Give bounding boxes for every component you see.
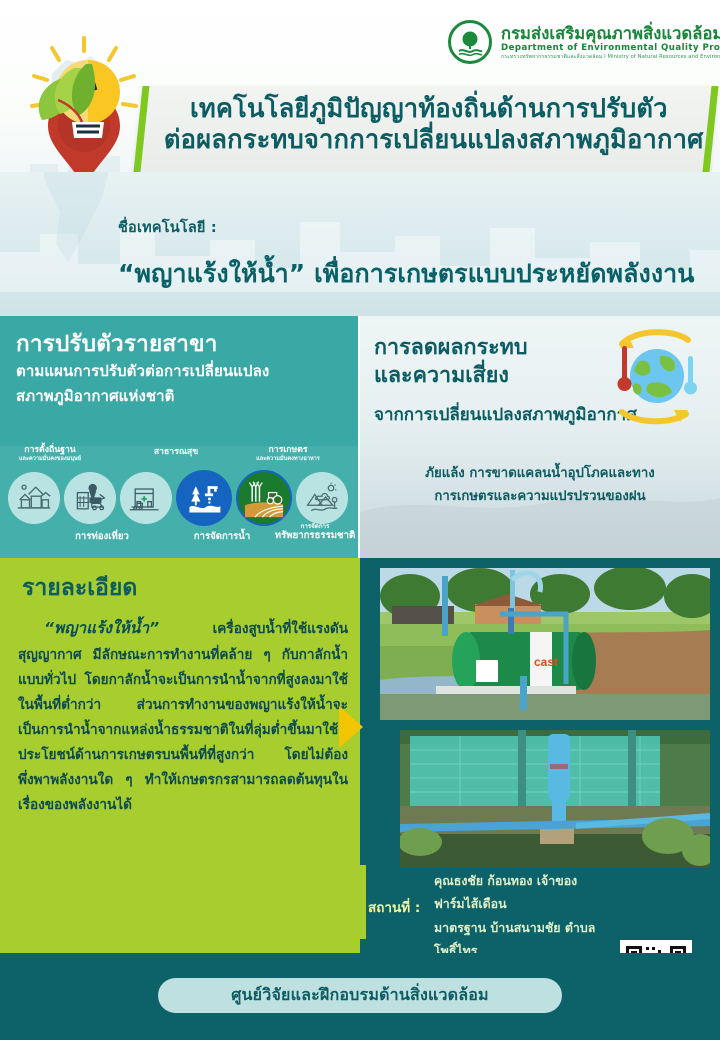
poster-header: กรมส่งเสริมคุณภาพสิ่งแวดล้อม Department … [0, 0, 720, 196]
green-barrel-pump-photo: cast [380, 568, 710, 720]
details-body-text: เครื่องสูบน้ำที่ใช้แรงดันสุญญากาศ มีลักษ… [18, 621, 348, 813]
thermometer-hot-icon [618, 346, 632, 391]
public-health-hospital-icon[interactable] [120, 472, 172, 524]
sector-caption-health: สาธารณสุข [130, 448, 222, 458]
sector-caption-settlement: การตั้งถิ่นฐาน และความมั่นคงของมนุษย์ [2, 446, 98, 462]
sector-caption-agriculture: การเกษตร และความมั่นคงทางอาหาร [232, 446, 344, 462]
department-name-th: กรมส่งเสริมคุณภาพสิ่งแวดล้อม [501, 25, 720, 43]
sector-caption-water: การจัดการน้ำ [176, 532, 268, 543]
mitigation-body-line1: ภัยแล้ง การขาดแคลนน้ำอุปโภคและทาง [370, 462, 710, 485]
poster-root: กรมส่งเสริมคุณภาพสิ่งแวดล้อม Department … [0, 0, 720, 1040]
mitigation-body: ภัยแล้ง การขาดแคลนน้ำอุปโภคและทาง การเกษ… [370, 462, 710, 508]
sector-icon-zone: การตั้งถิ่นฐาน และความมั่นคงของมนุษย์ สา… [0, 446, 358, 558]
thermometer-cold-icon [684, 356, 697, 395]
footer-organization-label: ศูนย์วิจัยและฝึกอบรมด้านสิ่งแวดล้อม [231, 983, 489, 1008]
arrow-right-icon [339, 706, 363, 748]
mitigation-subheading: จากการเปลี่ยนแปลงสภาพภูมิอากาศ [374, 404, 637, 426]
details-title: รายละเอียด [22, 570, 137, 606]
sector-panel-subheading-2: สภาพภูมิอากาศแห่งชาติ [16, 385, 342, 408]
water-management-tap-icon[interactable] [176, 470, 232, 526]
tourism-city-car-icon[interactable] [64, 472, 116, 524]
sector-caption-tourism: การท่องเที่ยว [54, 532, 150, 543]
technology-label: ชื่อเทคโนโลยี : [118, 216, 217, 239]
technology-name-band: ชื่อเทคโนโลยี : “พญาแร้งให้น้ำ” เพื่อการ… [0, 172, 720, 316]
ministry-line: กระทรวงทรัพยากรธรรมชาติและสิ่งแวดล้อม I … [501, 54, 720, 61]
address-accent-bar [360, 865, 366, 939]
settlement-houses-icon[interactable] [8, 472, 60, 524]
sector-panel-heading: การปรับตัวรายสาขา [16, 330, 342, 358]
department-logo: กรมส่งเสริมคุณภาพสิ่งแวดล้อม Department … [448, 20, 720, 64]
technology-name: “พญาแร้งให้น้ำ” เพื่อการเกษตรแบบประหยัดพ… [118, 254, 718, 294]
mitigation-heading-line1: การลดผลกระทบ [374, 334, 527, 362]
details-quoted-term: “พญาแร้งให้น้ำ” [44, 619, 159, 637]
details-panel: รายละเอียด “พญาแร้งให้น้ำ” เครื่องสูบน้ำ… [0, 558, 360, 953]
footer-organization-pill: ศูนย์วิจัยและฝึกอบรมด้านสิ่งแวดล้อม [158, 978, 562, 1013]
poster-title-ribbon: เทคโนโลยีภูมิปัญญาท้องถิ่นด้านการปรับตัว… [133, 86, 718, 172]
mitigation-heading: การลดผลกระทบ และความเสี่ยง [374, 334, 527, 389]
page-title-line2: ต่อผลกระทบจากการเปลี่ยนแปลงสภาพภูมิอากาศ [164, 125, 694, 156]
sector-adaptation-panel: การปรับตัวรายสาขา ตามแผนการปรับตัวต่อการ… [0, 316, 358, 558]
globe-thermometer-icon [602, 328, 706, 428]
blue-pvc-pipe-photo [400, 730, 710, 868]
page-title-line1: เทคโนโลยีภูมิปัญญาท้องถิ่นด้านการปรับตัว [164, 94, 694, 125]
sector-caption-natural-resources: การจัดการ ทรัพยากรธรรมชาติ [272, 524, 358, 542]
sector-panel-subheading-1: ตามแผนการปรับตัวต่อการเปลี่ยนแปลง [16, 360, 342, 383]
address-line-1: คุณธงชัย ก้อนทอง เจ้าของฟาร์มไส้เดือน [434, 869, 606, 916]
location-label: สถานที่ : [368, 896, 420, 918]
natural-resources-mountain-icon[interactable] [296, 472, 348, 524]
mitigation-heading-line2: และความเสี่ยง [374, 362, 527, 390]
sector-icon-row [8, 470, 348, 526]
department-name-en: Department of Environmental Quality Prom… [501, 43, 720, 54]
mitigation-body-line2: การเกษตรและความแปรปรวนของฝน [370, 485, 710, 508]
agriculture-tractor-icon[interactable] [236, 470, 292, 526]
svg-text:cast: cast [534, 655, 558, 669]
details-body: “พญาแร้งให้น้ำ” เครื่องสูบน้ำที่ใช้แรงดั… [18, 614, 348, 818]
tree-emblem-icon [448, 20, 492, 64]
mitigation-risk-panel: การลดผลกระทบ และความเสี่ยง จากการเปลี่ยน… [360, 316, 720, 558]
